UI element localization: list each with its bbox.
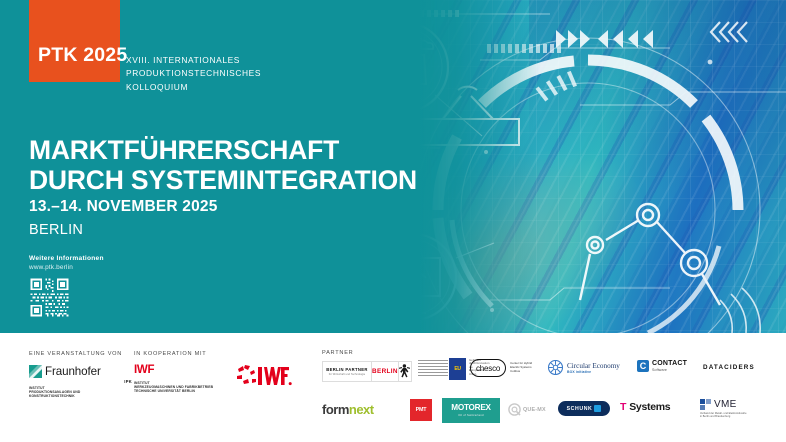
page-title: MARKTFÜHRERSCHAFT DURCH SYSTEMINTEGRATIO… xyxy=(29,135,417,195)
label-partner: PARTNER xyxy=(322,350,353,356)
logo-schunk[interactable]: SCHUNK xyxy=(558,401,610,416)
ptk-badge-label: PTK 2025 xyxy=(38,44,127,67)
logo-berlin-partner[interactable]: BERLIN PARTNER für Wirtschaft und Techno… xyxy=(322,361,412,382)
logo-formnext[interactable]: formnext xyxy=(322,402,374,417)
logo-motorex[interactable]: MOTOREX Oil of Switzerland xyxy=(442,398,500,423)
t-systems-t: T xyxy=(620,401,626,413)
iwf-splash-icon xyxy=(236,363,292,389)
more-info-url[interactable]: www.ptk.berlin xyxy=(29,264,104,271)
schunk-wordmark: SCHUNK xyxy=(567,406,593,412)
contact-wordmark: CONTACT xyxy=(652,360,687,367)
berlin-partner-sub: für Wirtschaft und Technologie xyxy=(329,373,366,376)
logo-vme[interactable]: VME Verband der Metall- und Elektroindus… xyxy=(700,399,778,418)
berlin-wordmark-cell: BERLIN xyxy=(372,362,399,381)
event-subtitle: XVIII. INTERNATIONALES PRODUKTIONSTECHNI… xyxy=(126,54,261,94)
more-info-block: Weitere Informationen www.ptk.berlin xyxy=(29,255,104,318)
logo-chesco[interactable]: Innovation chesco Center for Hybrid Elec… xyxy=(470,359,532,377)
berlin-partner-name: BERLIN PARTNER xyxy=(326,367,368,372)
logo-contact-software[interactable]: C CONTACT Software xyxy=(637,360,687,372)
que-mx-icon xyxy=(508,403,521,416)
more-info-heading: Weitere Informationen xyxy=(29,255,104,262)
ptk-badge: PTK 2025 xyxy=(29,0,120,82)
circular-economy-icon xyxy=(548,360,563,375)
bmwk-lines-decor xyxy=(418,360,448,378)
berlin-wordmark: BERLIN xyxy=(372,368,398,375)
logo-iwf-splash[interactable] xyxy=(236,363,292,389)
fraunhofer-institute-short: IPK xyxy=(29,379,132,384)
hero-banner: PTK 2025 XVIII. INTERNATIONALES PRODUKTI… xyxy=(0,0,786,333)
logo-fraunhofer-ipk[interactable]: Fraunhofer IPK INSTITUT PRODUKTIONSANLAG… xyxy=(29,365,133,399)
formnext-part-a: form xyxy=(322,402,349,417)
circular-economy-wordmark: Circular Economy xyxy=(567,362,620,370)
logo-que-mx[interactable]: QUE-MX xyxy=(508,403,546,416)
footer-logos: EINE VERANSTALTUNG VON IN KOOPERATION MI… xyxy=(0,333,786,442)
contact-caption: Software xyxy=(652,368,687,372)
chesco-caption: Center for Hybrid Electric Systems Cottb… xyxy=(510,362,532,373)
logo-pmt[interactable]: PMT xyxy=(410,399,432,421)
vme-mark-icon xyxy=(700,399,711,410)
chesco-wordmark: chesco xyxy=(476,365,500,374)
label-organizer: EINE VERANSTALTUNG VON xyxy=(29,351,122,357)
chesco-box: Innovation chesco xyxy=(470,359,506,377)
logo-circular-economy[interactable]: Circular Economy BOX initiative xyxy=(548,360,620,375)
pmt-wordmark: PMT xyxy=(416,407,427,413)
logo-t-systems[interactable]: T Systems xyxy=(620,401,670,413)
qr-code[interactable] xyxy=(29,277,70,318)
motorex-wordmark: MOTOREX xyxy=(451,404,491,413)
motorex-caption: Oil of Switzerland xyxy=(458,414,483,417)
logo-dataciders[interactable]: DATACIDERS xyxy=(703,364,755,371)
contact-mark-icon: C xyxy=(637,360,649,372)
event-city: BERLIN xyxy=(29,222,83,238)
event-date: 13.–14. NOVEMBER 2025 xyxy=(29,198,218,216)
ampelmann-icon xyxy=(399,364,410,379)
que-mx-wordmark: QUE-MX xyxy=(523,407,546,413)
vme-caption: Verband der Metall- und Elektroindustrie… xyxy=(700,412,778,418)
eu-flag-icon: EU xyxy=(449,358,466,380)
berlin-partner-left: BERLIN PARTNER für Wirtschaft und Techno… xyxy=(323,362,372,381)
label-cooperation: IN KOOPERATION MIT xyxy=(134,351,206,357)
ptk-poster: PTK 2025 XVIII. INTERNATIONALES PRODUKTI… xyxy=(0,0,786,442)
circular-economy-caption: BOX initiative xyxy=(567,370,620,374)
formnext-part-b: next xyxy=(349,402,374,417)
ampelmann-cell xyxy=(399,362,411,381)
schunk-mark-icon xyxy=(594,405,601,412)
eu-flag-label: EU xyxy=(454,366,460,372)
fraunhofer-caption: INSTITUT PRODUKTIONSANLAGEN UND KONSTRUK… xyxy=(29,386,133,399)
fraunhofer-wordmark: Fraunhofer xyxy=(45,366,101,378)
vme-wordmark: VME xyxy=(714,400,737,410)
fraunhofer-mark-icon xyxy=(29,365,42,378)
t-systems-word: Systems xyxy=(629,401,670,413)
